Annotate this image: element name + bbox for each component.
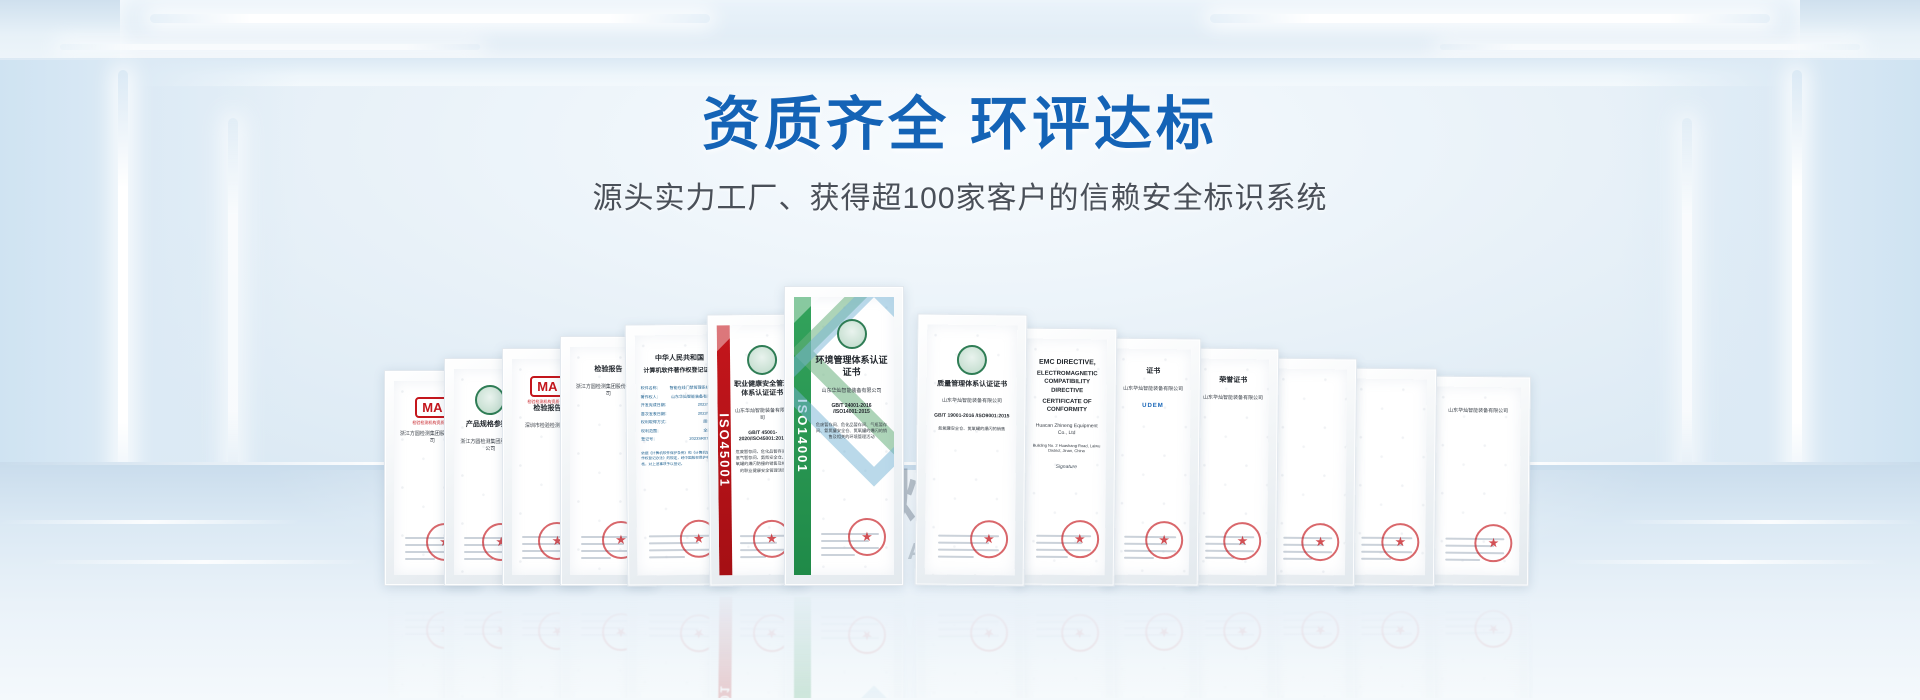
certificate-title: 职业健康安全管理体系认证证书 xyxy=(733,380,792,399)
certificate-frame-udem-certificate[interactable]: 证书山东华灿智能装备有限公司UDEM★ xyxy=(1103,338,1202,587)
ceiling-light-strip xyxy=(1440,44,1860,50)
certificate-company: 山东华灿智能装备有限公司 xyxy=(942,398,1002,406)
certificate-paper: ★ xyxy=(1273,369,1347,576)
headline-block: 资质齐全 环评达标 源头实力工厂、获得超100家客户的信赖安全标识系统 xyxy=(0,92,1920,217)
certificate-issuer: UDEM xyxy=(1142,402,1164,408)
certificate-text-line xyxy=(937,555,973,557)
certificate-text-line xyxy=(1445,558,1480,560)
certificate-field-label: 首次发表日期： xyxy=(641,411,669,417)
official-red-seal-icon: ★ xyxy=(848,518,886,556)
certificate-title: EMC DIRECTIVE, xyxy=(1039,358,1096,368)
certificate-text-line xyxy=(1036,556,1068,558)
certification-emblem-icon xyxy=(837,319,867,349)
certificate-company: 山东华灿智能装备有限公司 xyxy=(1448,408,1508,416)
certificate-text-line xyxy=(1283,557,1312,559)
certificate-title: 计算机软件著作权登记证书 xyxy=(643,366,715,375)
certificate-title: 中华人民共和国 xyxy=(655,354,704,364)
certificate-frame-iso14001[interactable]: ISO14001环境管理体系认证证书山东华灿智能装备有限公司GB/T 24001… xyxy=(784,286,904,586)
certificate-paper: 山东华灿智能装备有限公司★ xyxy=(1433,387,1521,576)
certificate-text-line xyxy=(405,558,436,560)
certificate-field-label: 软件名称： xyxy=(641,385,661,391)
ceiling-panel xyxy=(120,0,1800,64)
certification-emblem-icon xyxy=(957,345,987,375)
certificate-title: 环境管理体系认证证书 xyxy=(814,354,889,378)
floor-reflection-streak xyxy=(0,520,302,524)
certificate-text-line xyxy=(522,557,550,559)
certificate-text-line xyxy=(1205,557,1234,559)
official-red-seal-icon: ★ xyxy=(1301,523,1339,561)
certificate-text-line xyxy=(464,558,493,560)
certificate-company: 山东华灿智能装备有限公司 xyxy=(733,408,792,423)
certificate-paper: 荣誉证书山东华灿智能装备有限公司★ xyxy=(1195,359,1269,576)
certificate-text-line xyxy=(581,557,612,559)
certificate-frame-iso9001[interactable]: 质量管理体系认证证书山东华灿智能装备有限公司GB/T 19001-2016 /I… xyxy=(915,313,1028,586)
certificate-title: CERTIFICATE OF CONFORMITY xyxy=(1031,397,1102,414)
certificate-title: 证书 xyxy=(1146,367,1160,377)
page-subtitle: 源头实力工厂、获得超100家客户的信赖安全标识系统 xyxy=(0,173,1920,217)
page-title: 资质齐全 环评达标 xyxy=(0,92,1920,159)
certificate-field-label: 著作权人： xyxy=(641,394,661,400)
certificate-spine-label: ISO45001 xyxy=(717,413,733,488)
ceiling-light-strip xyxy=(60,44,480,50)
certification-emblem-icon xyxy=(747,345,777,375)
certification-emblem-icon xyxy=(475,385,505,415)
certificate-company: 山东华灿智能装备有限公司 xyxy=(821,388,881,395)
ceiling-light-strip xyxy=(150,14,710,23)
certificate-text-line xyxy=(821,554,855,556)
certificate-field-label: 权利取得方式： xyxy=(641,419,669,425)
certificate-scope: 危废暂存间、危化品暂存间、气瓶暂存间、氨氮罐安全仓、氮氧罐的爆闪的销售及相关的环… xyxy=(814,422,889,441)
certificate-signature: Signature xyxy=(1056,464,1077,470)
floor-reflection-streak xyxy=(38,560,371,564)
certificate-paper: 证书山东华灿智能装备有限公司UDEM★ xyxy=(1113,349,1191,576)
certificate-title: 检验报告 xyxy=(533,404,561,413)
certificate-scope: 氮氧罐安全仓、氮氧罐的爆闪的销售 xyxy=(938,426,1005,433)
official-red-seal-icon: ★ xyxy=(970,519,1008,557)
certificate-text-line xyxy=(1124,556,1155,558)
certificate-title: ELECTROMAGNETIC COMPATIBILITY DIRECTIVE xyxy=(1031,370,1102,395)
certificate-company: 山东华灿智能装备有限公司 xyxy=(1203,394,1263,402)
certificate-company: 山东华灿智能装备有限公司 xyxy=(1123,385,1183,393)
certificate-field-label: 开发完成日期： xyxy=(641,402,669,408)
certificate-field-label: 登记号： xyxy=(641,436,657,442)
certificate-paper: EMC DIRECTIVE,ELECTROMAGNETIC COMPATIBIL… xyxy=(1025,339,1107,576)
certificate-paper: ISO14001环境管理体系认证证书山东华灿智能装备有限公司GB/T 24001… xyxy=(794,297,894,575)
certificate-wall: MA检验检测机构资质认定浙江方圆检测集团股份有限公司★产品规格参数表浙江方圆检测… xyxy=(388,286,1533,586)
certificate-standard-code: GB/T 24001-2016 /ISO14001:2015 xyxy=(814,403,889,415)
certificate-company: Huacan Zhineng Equipment Co., Ltd xyxy=(1031,422,1102,437)
official-red-seal-icon: ★ xyxy=(1474,524,1512,562)
certificate-field-label: 权利范围： xyxy=(641,428,661,434)
certificate-address: Building No. 2 Huashang Road, Laiwu Dist… xyxy=(1031,442,1102,454)
certificate-spine: ISO45001 xyxy=(717,325,733,575)
certificate-standard-code: GB/T 19001-2016 /ISO9001:2015 xyxy=(934,413,1009,420)
certificate-title: 荣誉证书 xyxy=(1219,376,1247,386)
certificate-title: 检验报告 xyxy=(594,365,622,374)
certificate-frame-ce-declaration[interactable]: EMC DIRECTIVE,ELECTROMAGNETIC COMPATIBIL… xyxy=(1015,327,1118,586)
certificate-frame-blank-certificate-2[interactable]: 山东华灿智能装备有限公司★ xyxy=(1423,375,1531,586)
certificate-paper: 质量管理体系认证证书山东华灿智能装备有限公司GB/T 19001-2016 /I… xyxy=(925,325,1018,576)
certificate-text-line xyxy=(1361,558,1391,560)
floor-reflection-streak xyxy=(1558,560,1891,564)
certificate-text-line xyxy=(649,556,684,558)
floor-reflection-streak xyxy=(1618,520,1920,524)
certificate-title: 质量管理体系认证证书 xyxy=(937,380,1007,390)
certificate-paper: ★ xyxy=(1351,379,1427,576)
banner-stage: 资质齐全 环评达标 源头实力工厂、获得超100家客户的信赖安全标识系统 MA检验… xyxy=(0,0,1920,700)
ceiling-light-strip xyxy=(1210,14,1770,23)
